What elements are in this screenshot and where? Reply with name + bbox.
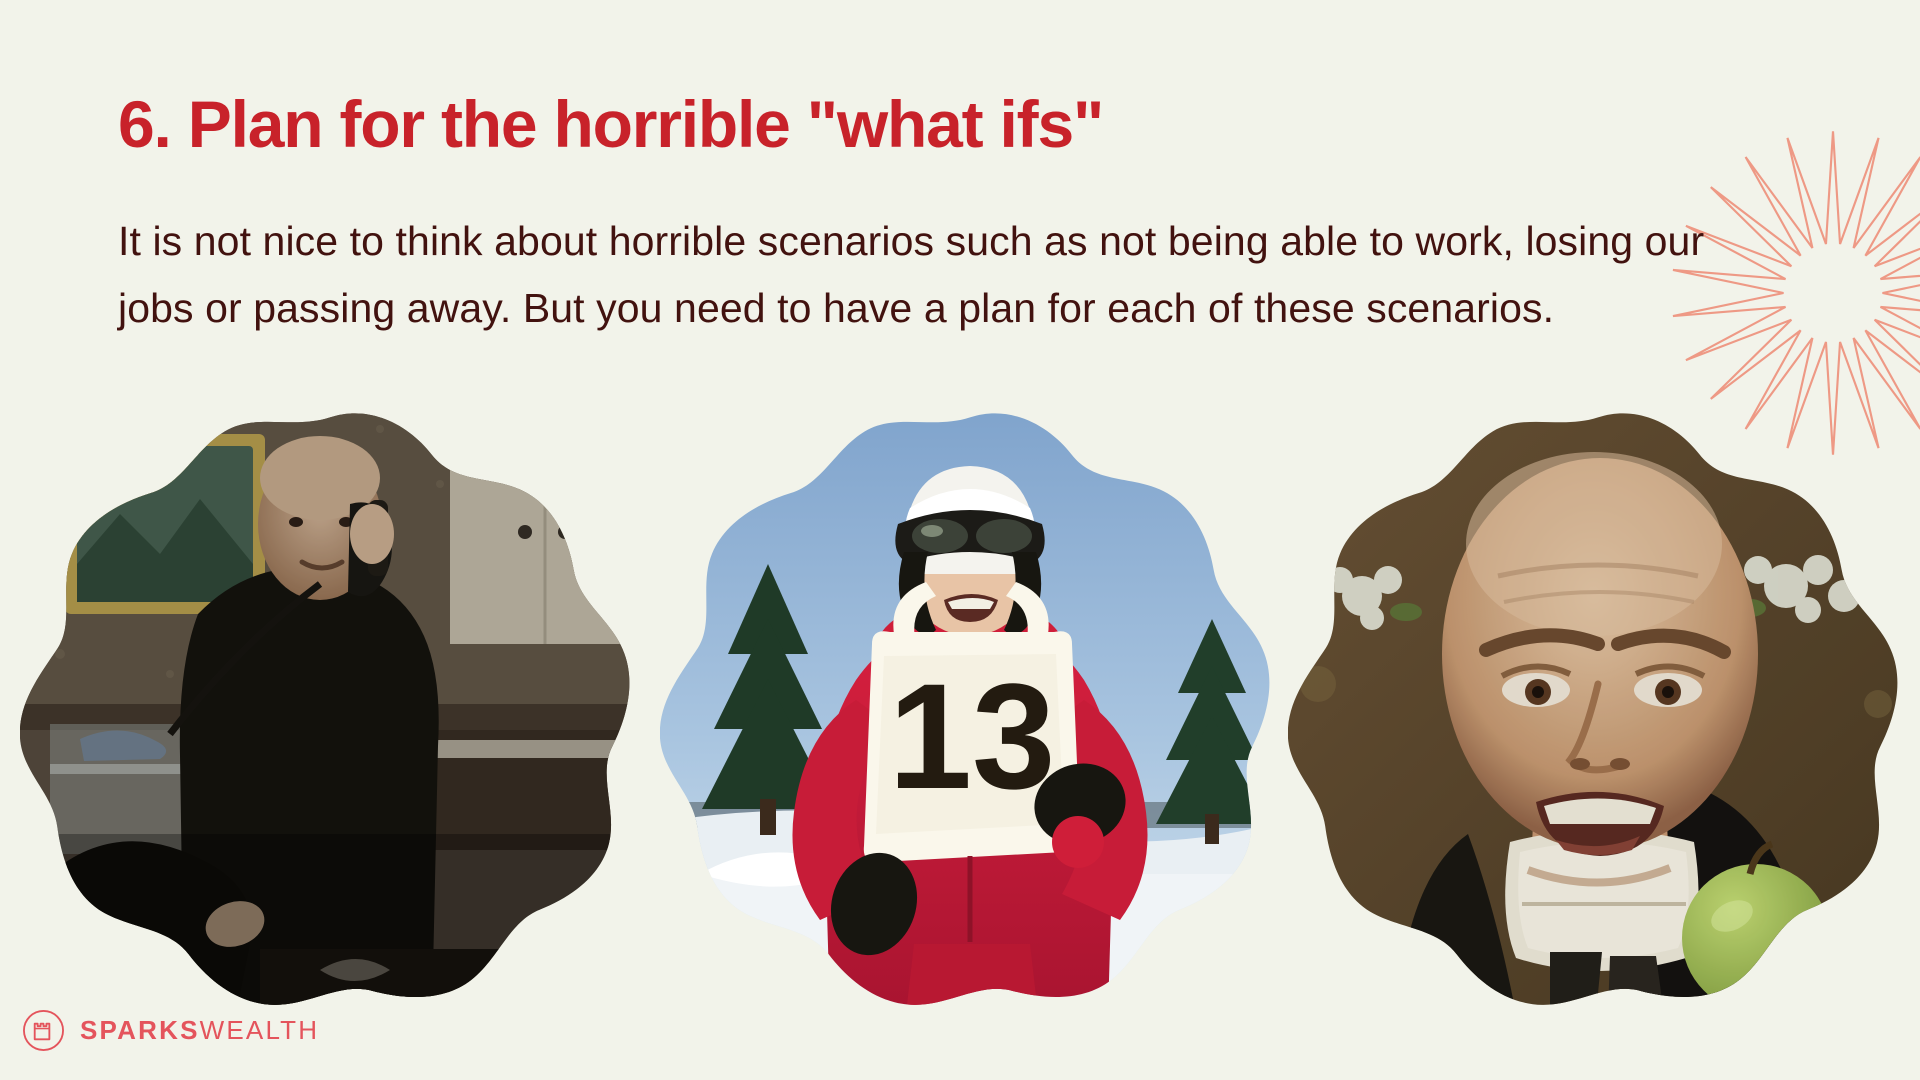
logo-word-sparks: SPARKS xyxy=(80,1015,200,1045)
bib-number: 13 xyxy=(889,652,1056,820)
castle-tower-icon xyxy=(22,1009,65,1052)
logo-wordmark: SPARKSWEALTH xyxy=(80,1015,319,1046)
photo-neck-brace-man-mask xyxy=(1288,404,1908,1014)
photo-phone-man-mask xyxy=(20,404,640,1014)
photo-row: 13 xyxy=(0,404,1920,1014)
photo-neck-brace-man xyxy=(1288,404,1908,1014)
photo-phone-man xyxy=(20,404,640,1014)
logo-word-wealth: WEALTH xyxy=(200,1015,320,1045)
page-title: 6. Plan for the horrible "what ifs" xyxy=(118,86,1103,162)
sparkswealth-logo: SPARKSWEALTH xyxy=(22,1009,319,1052)
slide-canvas: 6. Plan for the horrible "what ifs" It i… xyxy=(0,0,1920,1080)
body-paragraph: It is not nice to think about horrible s… xyxy=(118,208,1778,342)
photo-skier-13: 13 xyxy=(660,404,1280,1014)
photo-skier-13-mask: 13 xyxy=(660,404,1280,1014)
